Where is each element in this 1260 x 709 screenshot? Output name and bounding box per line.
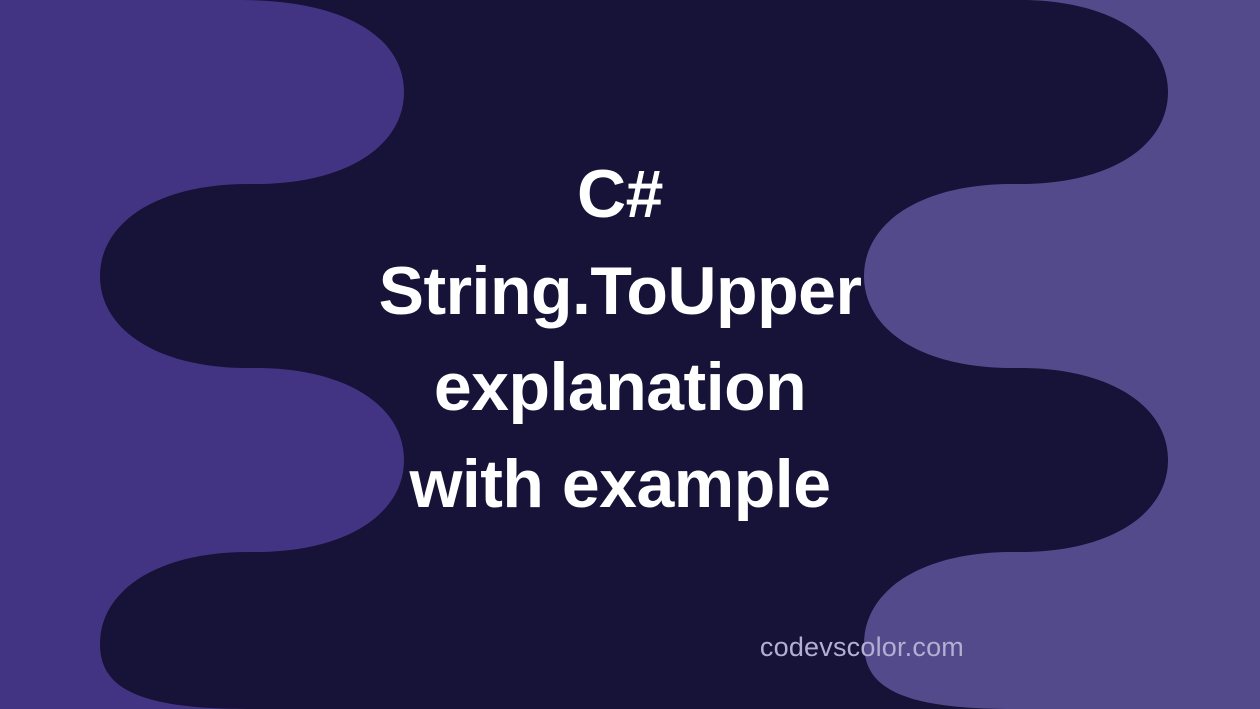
headline-line-1: C# [310, 146, 930, 243]
site-watermark: codevscolor.com [0, 632, 1260, 663]
headline-line-2: String.ToUpper [310, 243, 930, 340]
headline-line-3: explanation [310, 339, 930, 436]
headline-line-4: with example [310, 436, 930, 533]
page-title: C# String.ToUpper explanation with examp… [310, 146, 930, 532]
poster-canvas: C# String.ToUpper explanation with examp… [0, 0, 1260, 709]
poster-content: C# String.ToUpper explanation with examp… [0, 0, 1260, 709]
